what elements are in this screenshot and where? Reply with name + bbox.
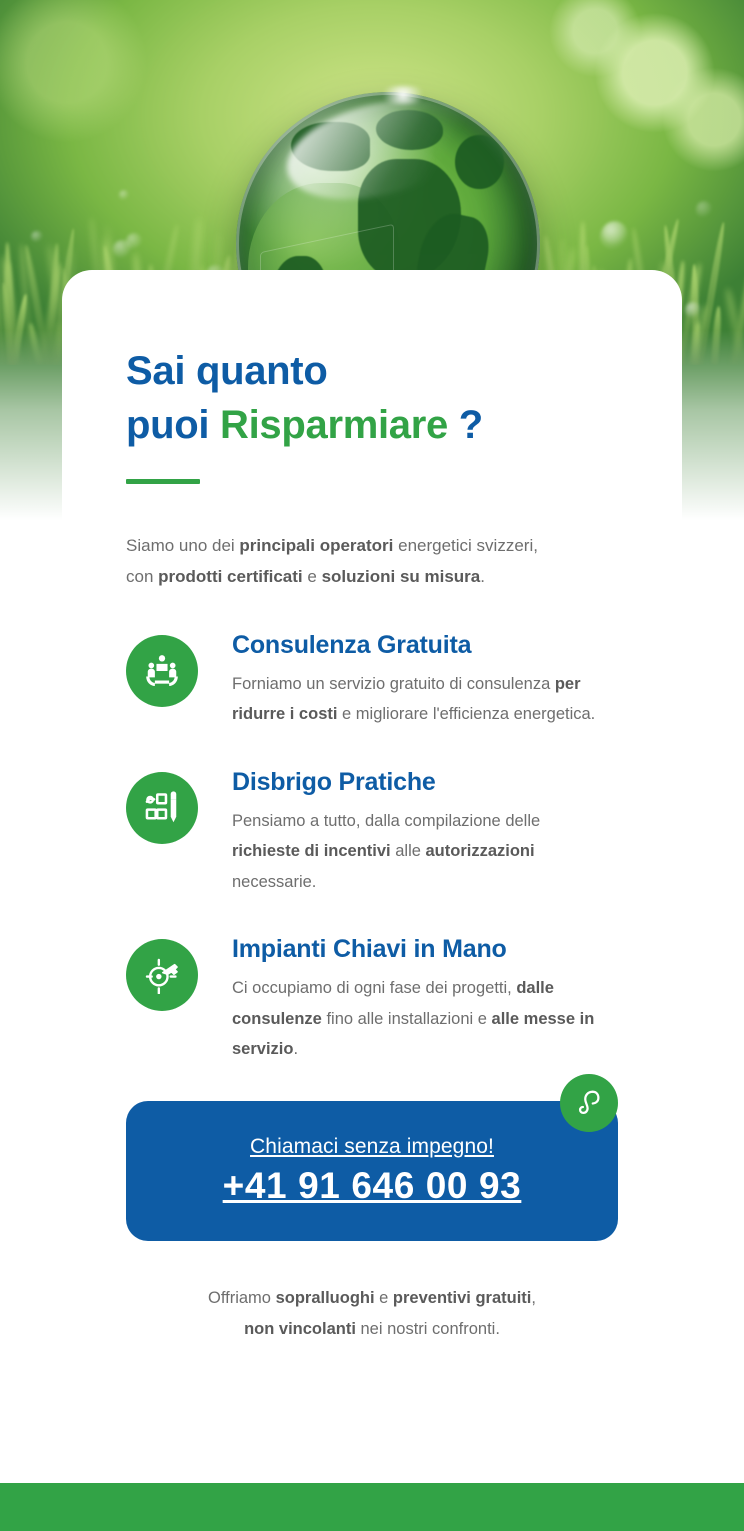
page-title: Sai quanto puoi Risparmiare ?: [126, 344, 682, 453]
feature-title: Consulenza Gratuita: [232, 631, 612, 660]
phone-number: +41 91 646 00 93: [223, 1165, 522, 1207]
content-card: Sai quanto puoi Risparmiare ? Siamo uno …: [62, 270, 682, 1381]
headline-line-2-pre: puoi: [126, 403, 220, 447]
footnote-bold-2: preventivi gratuiti: [393, 1289, 531, 1307]
feature-desc-bold: richieste di incentivi: [232, 842, 391, 860]
footnote-bold-1: sopralluoghi: [276, 1289, 375, 1307]
feature-desc-text-2: e migliorare l'efficienza energetica.: [337, 705, 595, 723]
call-us-button[interactable]: Chiamaci senza impegno! +41 91 646 00 93: [126, 1101, 618, 1241]
intro-text-5: .: [480, 567, 485, 586]
headline-highlight: Risparmiare: [220, 403, 448, 447]
bottom-accent-bar: [0, 1483, 744, 1531]
footnote-text-2: e: [375, 1289, 393, 1307]
key-target-icon: [126, 939, 198, 1011]
feature-title: Impianti Chiavi in Mano: [232, 935, 612, 964]
footnote-text: Offriamo sopralluoghi e preventivi gratu…: [126, 1283, 618, 1382]
cta-label: Chiamaci senza impegno!: [250, 1135, 494, 1159]
feature-desc-bold-2: autorizzazioni: [426, 842, 535, 860]
feature-desc-text-2: fino alle installazioni e: [322, 1010, 492, 1028]
intro-text-3: con: [126, 567, 158, 586]
footnote-text-4: nei nostri confronti.: [356, 1320, 500, 1338]
feature-desc-text-3: .: [293, 1040, 298, 1058]
feature-desc-text: Forniamo un servizio gratuito di consule…: [232, 675, 555, 693]
feature-title: Disbrigo Pratiche: [232, 768, 612, 797]
intro-paragraph: Siamo uno dei principali operatori energ…: [126, 530, 616, 593]
phone-icon[interactable]: [560, 1074, 618, 1132]
footnote-text-1: Offriamo: [208, 1289, 276, 1307]
feature-list: Consulenza Gratuita Forniamo un servizio…: [126, 629, 682, 1065]
feature-desc-text-2: alle: [391, 842, 426, 860]
feature-desc-text-3: necessarie.: [232, 873, 316, 891]
checklist-pen-icon: [126, 772, 198, 844]
intro-bold-3: soluzioni su misura: [322, 567, 481, 586]
feature-desc-text: Ci occupiamo di ogni fase dei progetti,: [232, 979, 516, 997]
feature-desc-text: Pensiamo a tutto, dalla compilazione del…: [232, 812, 540, 830]
headline-line-1: Sai quanto: [126, 349, 327, 393]
feature-description: Ci occupiamo di ogni fase dei progetti, …: [232, 973, 612, 1065]
footnote-bold-3: non vincolanti: [244, 1320, 356, 1338]
feature-description: Pensiamo a tutto, dalla compilazione del…: [232, 806, 612, 898]
feature-item-disbrigo[interactable]: Disbrigo Pratiche Pensiamo a tutto, dall…: [126, 766, 682, 898]
footnote-text-3: ,: [531, 1289, 536, 1307]
feature-item-impianti[interactable]: Impianti Chiavi in Mano Ci occupiamo di …: [126, 933, 682, 1065]
intro-bold-1: principali operatori: [239, 536, 393, 555]
feature-item-consulenza[interactable]: Consulenza Gratuita Forniamo un servizio…: [126, 629, 682, 730]
consultation-meeting-icon: [126, 635, 198, 707]
intro-text-2: energetici svizzeri,: [393, 536, 538, 555]
intro-text-4: e: [303, 567, 322, 586]
headline-line-2-post: ?: [448, 403, 483, 447]
accent-divider: [126, 479, 200, 484]
intro-text: Siamo uno dei: [126, 536, 239, 555]
feature-description: Forniamo un servizio gratuito di consule…: [232, 669, 612, 730]
cta-section: Chiamaci senza impegno! +41 91 646 00 93: [126, 1101, 618, 1241]
intro-bold-2: prodotti certificati: [158, 567, 303, 586]
